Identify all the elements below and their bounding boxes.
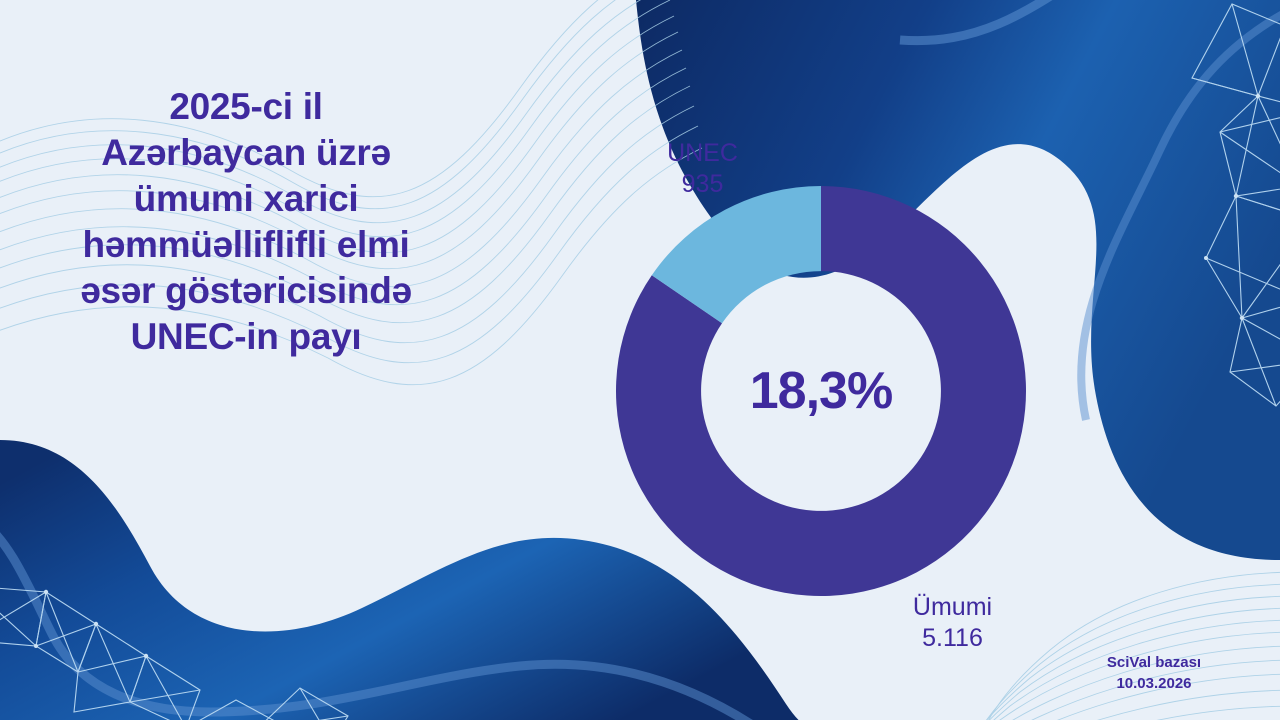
- decor-highlight-top-right-2: [1081, 10, 1280, 420]
- decor-network-bottom-left: [0, 586, 348, 720]
- decor-network-top-right: [1192, 4, 1280, 406]
- donut-chart: 18,3%: [616, 186, 1026, 596]
- donut-chart-svg: [616, 186, 1026, 596]
- donut-label-umumi: Ümumi 5.116: [855, 592, 1050, 654]
- source-caption: SciVal bazası 10.03.2026: [1054, 652, 1254, 694]
- page-title: 2025-ci il Azərbaycan üzrə ümumi xarici …: [26, 84, 466, 360]
- slide-canvas: 2025-ci il Azərbaycan üzrə ümumi xarici …: [0, 0, 1280, 720]
- donut-label-unec: UNEC 935: [600, 138, 805, 200]
- title-block: 2025-ci il Azərbaycan üzrə ümumi xarici …: [26, 84, 466, 360]
- decor-highlight-top-right: [900, 0, 1280, 41]
